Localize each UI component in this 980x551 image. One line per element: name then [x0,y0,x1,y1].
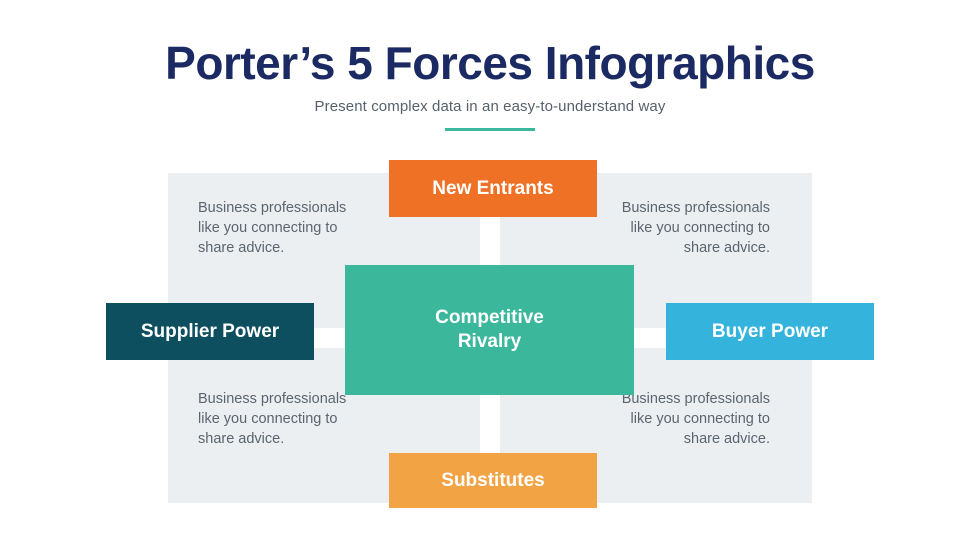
force-box-new-entrants[interactable]: New Entrants [389,160,597,217]
force-box-competitive-rivalry[interactable]: Competitive Rivalry [345,265,634,395]
force-label-competitive-rivalry-line2: Rivalry [458,331,521,352]
force-label-supplier-power: Supplier Power [141,320,279,344]
force-label-competitive-rivalry: Competitive Rivalry [435,306,544,354]
force-box-supplier-power[interactable]: Supplier Power [106,303,314,360]
force-label-buyer-power: Buyer Power [712,320,828,344]
force-label-substitutes: Substitutes [441,469,544,493]
slide-canvas: Porter’s 5 Forces Infographics Present c… [0,0,980,551]
force-box-buyer-power[interactable]: Buyer Power [666,303,874,360]
note-bottom-left: Business professionals like you connecti… [198,389,358,449]
force-label-new-entrants: New Entrants [432,177,553,201]
page-subtitle: Present complex data in an easy-to-under… [0,98,980,115]
force-box-substitutes[interactable]: Substitutes [389,453,597,508]
page-title: Porter’s 5 Forces Infographics [0,38,980,89]
force-label-competitive-rivalry-line1: Competitive [435,307,544,328]
accent-divider [445,128,535,131]
note-bottom-right: Business professionals like you connecti… [610,389,770,449]
note-top-right: Business professionals like you connecti… [610,198,770,258]
note-top-left: Business professionals like you connecti… [198,198,358,258]
